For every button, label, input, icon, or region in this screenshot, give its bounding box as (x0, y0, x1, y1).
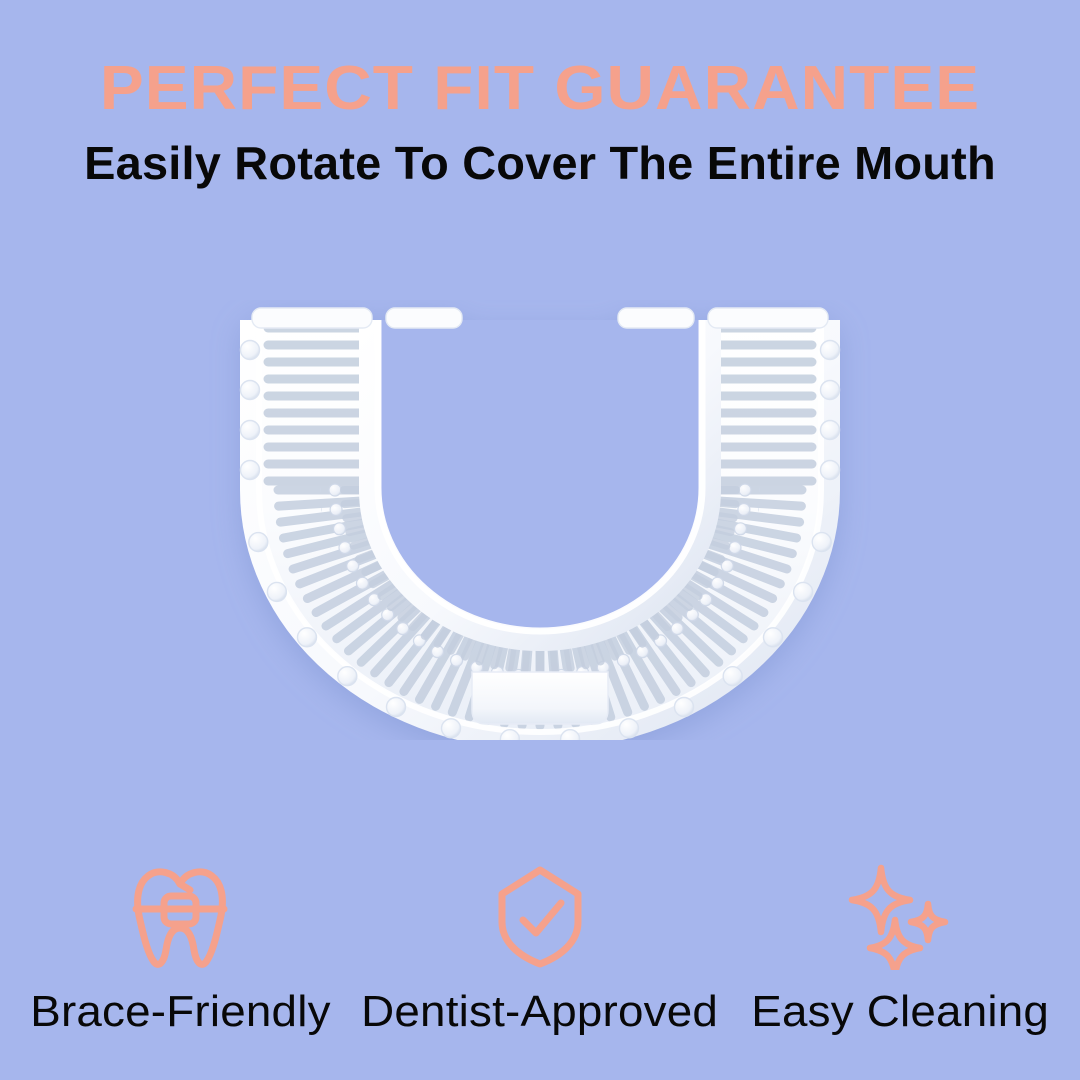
product-body-group (241, 308, 840, 740)
sparkles-icon (848, 862, 952, 970)
u-shaped-toothbrush-head-image (190, 300, 890, 740)
page-title: PERFECT FIT GUARANTEE (0, 0, 1080, 120)
shield-check-icon (495, 862, 585, 970)
page-subtitle: Easily Rotate To Cover The Entire Mouth (0, 120, 1080, 186)
feature-label-dentist-approved: Dentist-Approved (362, 990, 719, 1034)
feature-brace-friendly: Brace-Friendly (0, 862, 360, 1034)
feature-row: Brace-Friendly Dentist-Approved Easy Cle… (0, 862, 1080, 1062)
header: PERFECT FIT GUARANTEE Easily Rotate To C… (0, 0, 1080, 186)
feature-dentist-approved: Dentist-Approved (360, 862, 720, 1034)
promo-image: PERFECT FIT GUARANTEE Easily Rotate To C… (0, 0, 1080, 1080)
product-image-stage (0, 300, 1080, 770)
product-stem (472, 672, 608, 724)
tooth-with-braces-icon (128, 862, 232, 970)
feature-label-easy-cleaning: Easy Cleaning (751, 990, 1049, 1034)
feature-easy-cleaning: Easy Cleaning (720, 862, 1080, 1034)
feature-label-brace-friendly: Brace-Friendly (30, 990, 330, 1034)
